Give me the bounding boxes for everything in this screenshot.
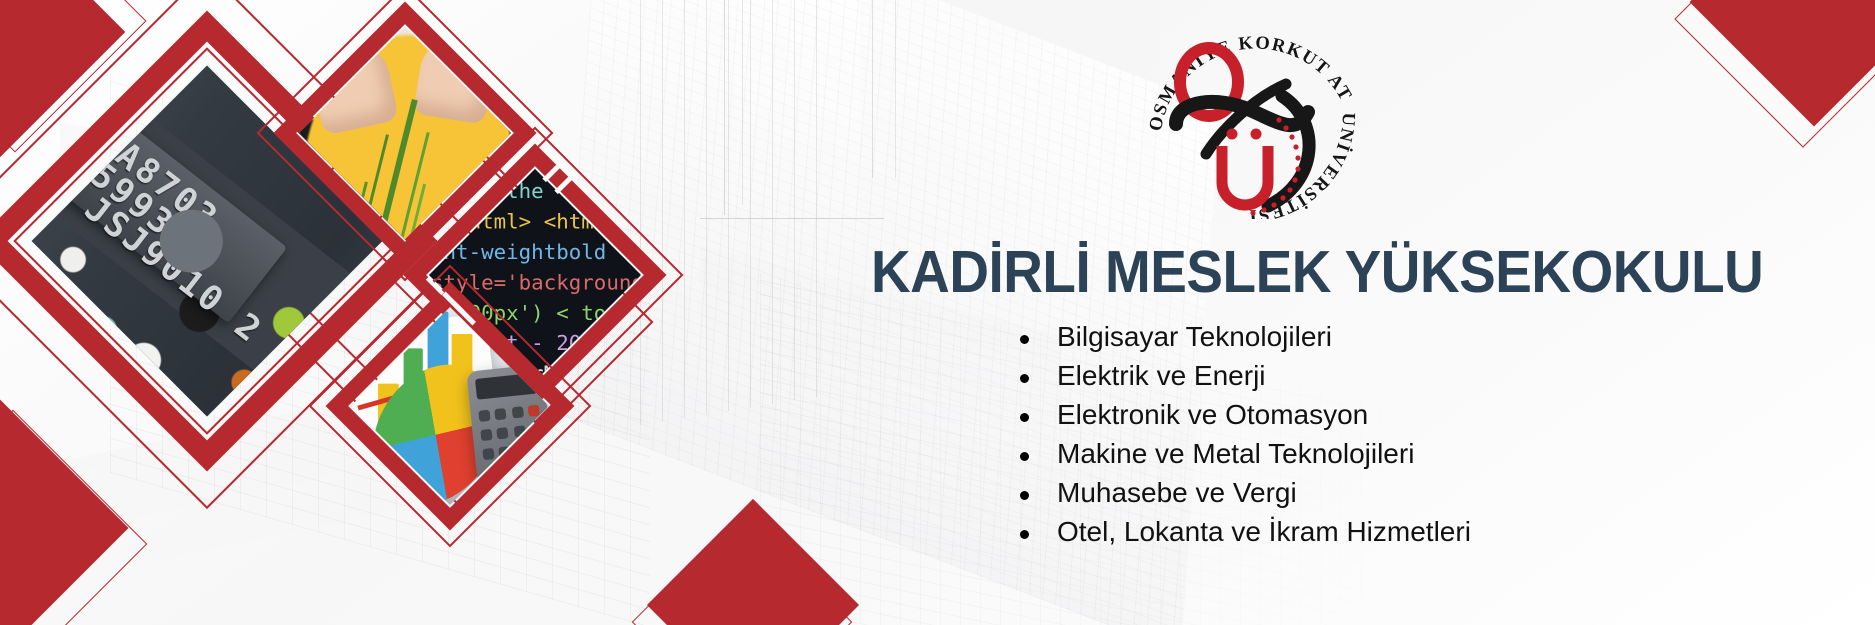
university-banner: DA8703 5993 JSJ9010 2 = the <html> <ht: [0, 0, 1875, 625]
list-item: Otel, Lokanta ve İkram Hizmetleri: [1007, 512, 1471, 551]
list-item: Makine ve Metal Teknolojileri: [1007, 434, 1471, 473]
calculator-key: [534, 463, 546, 475]
list-item: Muhasebe ve Vergi: [1007, 473, 1471, 512]
calculator-key: [495, 408, 507, 420]
logo-umlaut-dot-left: [1227, 129, 1238, 140]
decor-diamond-outline-top-right: [1674, 0, 1875, 148]
logo-umlaut-dot-right: [1251, 129, 1262, 140]
decor-diamond-outline-bottom-left: [0, 410, 147, 625]
list-item: Elektrik ve Enerji: [1007, 356, 1471, 395]
calculator-key: [497, 427, 509, 439]
calculator-key: [480, 429, 492, 441]
logo-letter-u: [1222, 146, 1268, 205]
page-title: KADİRLİ MESLEK YÜKSEKOKULU: [871, 243, 1763, 302]
calculator-key: [482, 449, 494, 461]
program-list: Bilgisayar Teknolojileri Elektrik ve Ene…: [1007, 317, 1471, 551]
facade-edge-2: [742, 0, 743, 205]
facade-edge-3: [872, 0, 873, 178]
facade-grid-b: [640, 0, 830, 425]
calculator-key: [478, 409, 490, 421]
university-logo: OSMANİYE KORKUT ATA ÜNİVERSİTESİ: [1146, 4, 1356, 219]
list-item: Bilgisayar Teknolojileri: [1007, 317, 1471, 356]
calculator-key: [528, 404, 540, 416]
facade-slab-4: [860, 0, 1160, 263]
facade-edge-4: [895, 0, 896, 178]
facade-edge-5: [700, 218, 884, 219]
calculator-key: [511, 406, 523, 418]
list-item: Elektronik ve Otomasyon: [1007, 395, 1471, 434]
facade-edge-1: [724, 0, 725, 215]
